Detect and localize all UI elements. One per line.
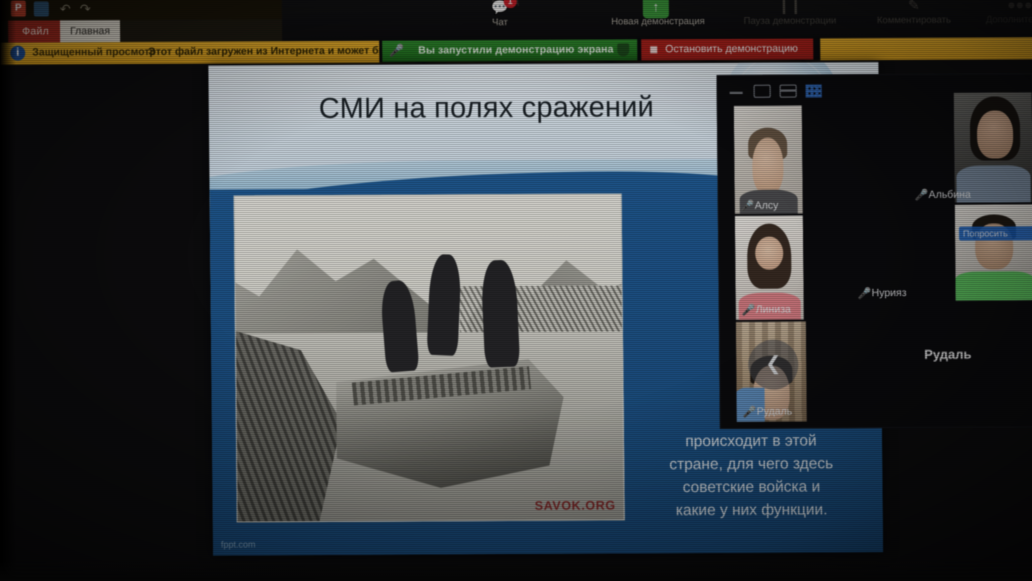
participant-name: Нурияз xyxy=(872,287,907,299)
zoom-more-label: Дополнительно xyxy=(986,14,1032,25)
stop-share-button[interactable]: Остановить демонстрацию xyxy=(641,38,813,60)
slide-line: советские войска и xyxy=(683,478,821,496)
zoom-participants-panel: 🎤 Алсу 🎤 Линиза 🎤 Рудаль xyxy=(716,73,1032,429)
slide-photo: SAVOK.ORG xyxy=(234,193,625,522)
mic-muted-icon: 🎤 xyxy=(742,304,756,317)
ribbon-tab-file[interactable]: Файл xyxy=(8,20,63,42)
zoom-pause-share-button[interactable]: ❙❙ Пауза демонстрации xyxy=(726,0,854,27)
participant-video xyxy=(955,204,1032,300)
grid-view-icon[interactable] xyxy=(806,84,822,97)
share-status-pill: 🎤 Вы запустили демонстрацию экрана xyxy=(382,39,637,61)
zoom-pause-share-label: Пауза демонстрации xyxy=(744,15,837,26)
zoom-more-button[interactable]: ●●● Дополнительно xyxy=(972,0,1032,26)
participant-video xyxy=(954,92,1032,202)
active-speaker-label: Рудаль xyxy=(924,347,971,362)
participant-tile-alsu[interactable] xyxy=(734,106,803,214)
mic-muted-icon: 🎤 xyxy=(743,406,757,419)
mic-muted-icon: 🎤 xyxy=(741,200,755,213)
stop-share-label: Остановить демонстрацию xyxy=(665,43,798,56)
chat-icon: 💬 xyxy=(474,0,526,17)
slide-footer-watermark: fppt.com xyxy=(221,539,256,549)
pencil-icon: ✎ xyxy=(858,0,970,15)
minimize-icon[interactable] xyxy=(730,92,743,94)
photographed-monitor: P ↶ ↷ Файл Главная Конструктор Анимация … xyxy=(0,0,1032,581)
zoom-view-controls xyxy=(728,80,838,101)
shield-icon xyxy=(617,43,629,56)
participant-name: Рудаль xyxy=(757,406,793,418)
zoom-tooltip: Попросить xyxy=(959,226,1032,240)
single-pane-icon[interactable] xyxy=(754,85,771,98)
avatar-face xyxy=(755,236,783,269)
ribbon-tab-home[interactable]: Главная xyxy=(60,20,120,42)
chevron-left-icon[interactable]: ❮ xyxy=(748,340,798,390)
slide-line: стране, для чего здесь xyxy=(669,455,833,473)
mic-icon[interactable]: 🎤 xyxy=(389,44,404,58)
split-pane-icon[interactable] xyxy=(780,85,797,98)
participant-name: Алсу xyxy=(755,200,779,212)
stop-square-icon xyxy=(650,46,657,53)
pause-icon: ❙❙ xyxy=(726,0,854,16)
avatar-face xyxy=(977,110,1013,159)
share-up-icon[interactable]: ↑ xyxy=(643,0,669,18)
save-icon[interactable] xyxy=(34,1,49,16)
more-icon: ●●● xyxy=(972,0,1032,15)
zoom-meeting-toolbar: Выход 💬 Чат 1 ▲ Новая демонстрация ↑ ❙❙ … xyxy=(282,0,1032,41)
slide-line: происходит в этой xyxy=(685,432,816,450)
slide-line: какие у них функции. xyxy=(676,501,828,519)
mic-muted-icon: 🎤 xyxy=(858,287,872,300)
participant-tile-nuriaz[interactable] xyxy=(955,204,1032,300)
protected-view-title: Защищенный просмотр xyxy=(32,46,156,59)
mic-muted-icon: 🎤 xyxy=(915,189,929,202)
zoom-chat-label: Чат xyxy=(492,17,508,28)
left-edge-shadow xyxy=(0,0,16,581)
participant-tile-albina[interactable] xyxy=(954,92,1032,202)
undo-icon[interactable]: ↶ xyxy=(58,1,73,16)
participant-video xyxy=(734,106,803,214)
participant-name: Линиза xyxy=(756,304,791,316)
zoom-share-status-bar: 🎤 Вы запустили демонстрацию экрана Остан… xyxy=(379,37,820,62)
photo-watermark: SAVOK.ORG xyxy=(535,498,616,512)
share-status-text: Вы запустили демонстрацию экрана xyxy=(418,43,613,56)
participant-name: Альбина xyxy=(929,189,971,201)
avatar-body xyxy=(955,271,1032,300)
redo-icon[interactable]: ↷ xyxy=(78,1,93,16)
zoom-annotate-button[interactable]: ✎ Комментировать xyxy=(858,0,970,26)
avatar-face xyxy=(752,138,784,194)
bottom-edge-shadow xyxy=(0,561,1032,581)
zoom-chat-button[interactable]: 💬 Чат xyxy=(474,0,526,28)
zoom-annotate-label: Комментировать xyxy=(877,15,951,26)
